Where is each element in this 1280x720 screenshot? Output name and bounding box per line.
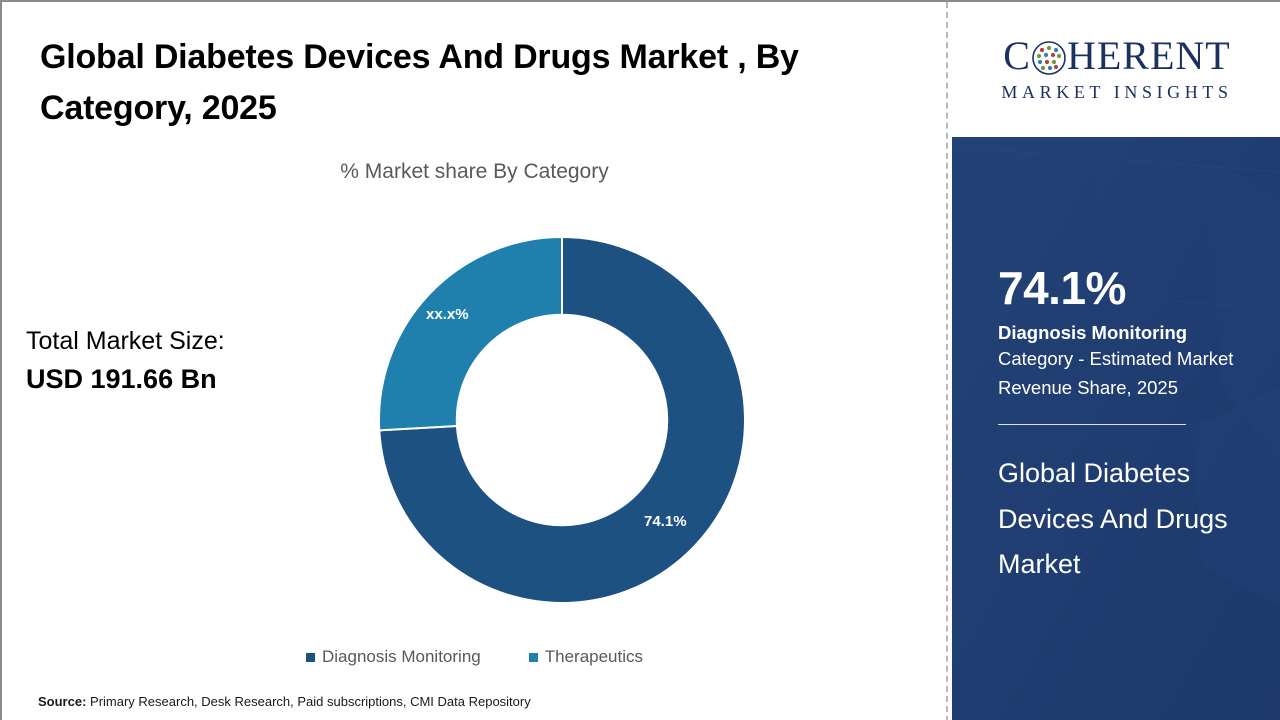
slide-canvas: Global Diabetes Devices And Drugs Market…	[0, 0, 1280, 720]
legend-label: Diagnosis Monitoring	[322, 647, 481, 667]
donut-label-diagnosis-monitoring: 74.1%	[644, 513, 687, 530]
chart-pane: Global Diabetes Devices And Drugs Market…	[2, 2, 947, 720]
stat-description: Category - Estimated Market Revenue Shar…	[998, 344, 1236, 402]
chart-legend: Diagnosis MonitoringTherapeutics	[2, 647, 947, 667]
source-value: Primary Research, Desk Research, Paid su…	[86, 694, 530, 709]
logo-letter-c: C	[1003, 36, 1031, 76]
source-label: Source:	[38, 694, 86, 709]
sidebar-pane: C	[952, 2, 1280, 720]
total-market-size-block: Total Market Size: USD 191.66 Bn	[26, 324, 326, 398]
legend-swatch-icon	[529, 653, 538, 662]
legend-item[interactable]: Diagnosis Monitoring	[306, 647, 481, 667]
page-title: Global Diabetes Devices And Drugs Market…	[40, 32, 900, 134]
logo-letters-herent: HERENT	[1067, 36, 1231, 76]
globe-icon	[1032, 41, 1066, 75]
source-note: Source: Primary Research, Desk Research,…	[38, 694, 531, 709]
brand-logo: C	[952, 2, 1280, 137]
donut-chart: xx.x% 74.1%	[379, 237, 745, 603]
divider-rule	[998, 424, 1186, 425]
donut-label-therapeutics: xx.x%	[426, 306, 469, 323]
legend-label: Therapeutics	[545, 647, 643, 667]
donut-slice-therapeutics[interactable]	[379, 237, 562, 430]
logo-wordmark: C	[1003, 36, 1230, 76]
donut-chart-svg	[379, 237, 745, 603]
stat-value: 74.1%	[998, 264, 1236, 312]
highlight-content: 74.1% Diagnosis Monitoring Category - Es…	[952, 264, 1280, 588]
total-market-size-value: USD 191.66 Bn	[26, 360, 326, 398]
vertical-divider	[946, 2, 948, 720]
chart-subtitle: % Market share By Category	[2, 160, 947, 184]
legend-swatch-icon	[306, 653, 315, 662]
legend-item[interactable]: Therapeutics	[529, 647, 643, 667]
stat-category: Diagnosis Monitoring	[998, 321, 1236, 344]
logo-subtitle: MARKET INSIGHTS	[1001, 82, 1232, 103]
highlight-panel: 74.1% Diagnosis Monitoring Category - Es…	[952, 137, 1280, 720]
total-market-size-label: Total Market Size:	[26, 324, 326, 360]
report-name: Global Diabetes Devices And Drugs Market	[998, 451, 1236, 587]
